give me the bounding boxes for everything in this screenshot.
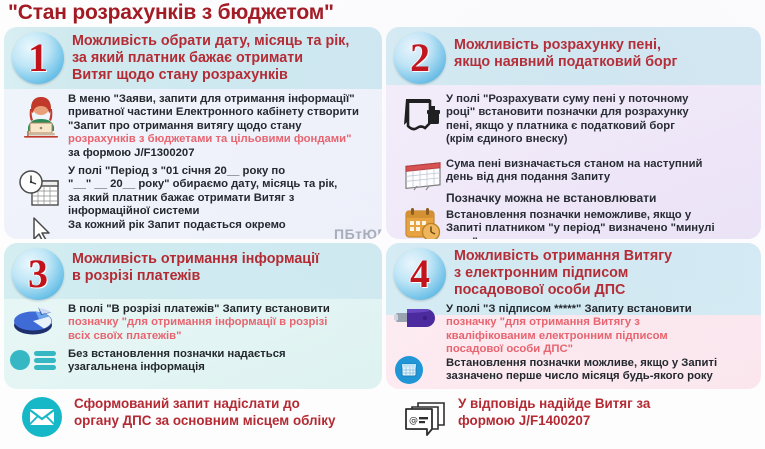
panel-2-row-3-line-2: Встановлення позначки неможливе, якщо у [446,209,755,222]
panel-2-number-badge: 2 [394,32,446,84]
panel-1-heading-line-1: Можливість обрати дату, місяць та рік, [72,33,374,50]
panel-3-row-2-line-2: узагальнена інформація [68,361,376,374]
infographic-page: "Стан розрахунків з бюджетом" 1 Можливіс… [0,0,765,449]
footer-response-text: У відповідь надійде Витяг за формою J/F1… [458,396,757,429]
panel-4-row-1-line-1: У полі "З підписом *****" Запиту встанов… [446,303,755,316]
panel-3-row-1-line-3: всіх своїх платежів" [68,330,376,343]
panel-1-row-2-line-1: У полі "Період з "01 січня 20__ року по [68,165,376,178]
footer-send-request-line-2: органу ДПС за основним місцем обліку [74,413,378,430]
panel-1-row-1-line-3: "Запит про отримання витягу щодо стану [68,120,376,133]
panel-3-heading-line-2: в розрізі платежів [72,268,374,285]
panel-1-heading-line-3: Витяг щодо стану розрахунків [72,67,374,84]
panel-4-row-1-line-2: позначку "для отримання Витягу з [446,316,755,329]
panel-1-number-badge: 1 [12,32,64,84]
calendar-red-top-icon [400,157,446,193]
panel-2-row-1-line-1: У полі "Розрахувати суму пені у поточном… [446,93,755,106]
panel-1-row-2-text: У полі "Період з "01 січня 20__ року по … [68,165,376,219]
footer-send-request: Сформований запит надіслати до органу ДП… [4,392,382,444]
footer-response-line-1: У відповідь надійде Витяг за [458,396,757,413]
calendar-clock-icon [400,205,446,239]
footer-response-line-2: формою J/F1400207 [458,413,757,430]
panel-4-heading-line-3: посадовової особи ДПС [454,282,753,299]
panel-2-row-1-line-4: (крім єдиного внеску) [446,133,755,146]
panel-1-number: 1 [12,32,64,84]
panel-2-row-2-line-2: день від дня подання Запиту [446,171,755,184]
panel-2-row-3-line-3: Запиті платником "у період" визначено "м… [446,222,755,235]
panel-2-heading: Можливість розрахунку пені, якщо наявний… [454,37,753,71]
panel-1-row-1-line-2: приватної частини Електронного кабінету … [68,106,376,119]
panel-4-row-2-line-2: зазначено перше число місяця будь-якого … [446,370,755,383]
panel-3-number-badge: 3 [12,248,64,300]
panel-3-row-1-text: В полі "В розрізі платежів" Запиту встан… [68,303,376,343]
panel-4-number-badge: 4 [394,248,446,300]
panel-1-row-2-line-2: "__" __ 20__ року" обираємо дату, місяць… [68,178,376,191]
panel-4-row-1-line-4: посадової особи ДПС" [446,343,755,356]
panel-1-heading: Можливість обрати дату, місяць та рік, з… [72,33,374,84]
panel-1-heading-line-2: за який платник бажає отримати [72,50,374,67]
scroll-inkpot-icon [400,93,446,135]
panel-2-row-1-line-3: пені, якщо у платника є податковий борг [446,120,755,133]
panel-4-row-2-text: Встановлення позначки можливе, якщо у За… [446,357,755,384]
list-circle-icon [8,347,54,377]
footer-send-request-line-1: Сформований запит надіслати до [74,396,378,413]
panel-4: 4 Можливість отримання Витягу з електрон… [386,243,761,389]
panel-4-heading-line-1: Можливість отримання Витягу [454,248,753,265]
watermark: ПБтЮП [334,226,382,239]
panel-2-row-2-text: Сума пені визначається станом на наступн… [446,158,755,185]
usb-token-icon [392,303,438,337]
svg-text:@: @ [409,416,418,426]
panel-3-number: 3 [12,248,64,300]
panel-2-row-3-text: Позначку можна не встановлювати Встановл… [446,191,755,239]
calendar-blue-circle-icon [392,355,438,387]
panel-4-heading: Можливість отримання Витягу з електронни… [454,248,753,299]
panel-1-row-1-line-4: розрахунків з бюджетами та цільовими фон… [68,133,376,146]
clock-calendar-icon [18,169,64,209]
panel-2-row-1-text: У полі "Розрахувати суму пені у поточном… [446,93,755,147]
panel-2-row-3-line-4: роки" [446,236,755,239]
footer-send-request-text: Сформований запит надіслати до органу ДП… [74,396,378,429]
page-title: "Стан розрахунків з бюджетом" [8,0,608,26]
pie-chart-icon [8,303,54,343]
panel-1-row-1-text: В меню "Заяви, запити для отримання інфо… [68,93,376,160]
panel-4-row-1-line-3: кваліфікованим електронним підписом [446,330,755,343]
panel-4-row-2-line-1: Встановлення позначки можливе, якщо у За… [446,357,755,370]
panel-3-heading: Можливість отримання інформації в розріз… [72,251,374,285]
panel-3-row-1-line-2: позначку "для отримання інформації в роз… [68,316,376,329]
panel-2-number: 2 [394,32,446,84]
panel-4-heading-line-2: з електронним підписом [454,265,753,282]
panel-1-row-1-line-1: В меню "Заяви, запити для отримання інфо… [68,93,376,106]
panel-3-row-1-line-1: В полі "В розрізі платежів" Запиту встан… [68,303,376,316]
panel-2-row-3-line-1: Позначку можна не встановлювати [446,191,755,206]
panel-3: 3 Можливість отримання інформації в розр… [4,243,382,389]
woman-at-laptop-icon [18,95,64,141]
panel-1-row-2-line-4: інформаційної системи [68,205,376,218]
panel-2: 2 Можливість розрахунку пені, якщо наявн… [386,27,761,239]
cursor-arrow-icon [18,215,64,239]
panel-4-number: 4 [394,248,446,300]
panel-1-row-3-line-1: За кожний рік Запит подається окремо [68,219,376,232]
panel-1-row-3-text: За кожний рік Запит подається окремо [68,219,376,232]
panel-1-row-1-line-5: за формою J/F1300207 [68,147,376,160]
panel-1-row-2-line-3: за який платник бажає отримати Витяг з [68,192,376,205]
panel-2-row-2-line-1: Сума пені визначається станом на наступн… [446,158,755,171]
footer-response: @ У відповідь надійде Витяг за формою J/… [386,392,761,444]
panel-3-row-2-line-1: Без встановлення позначки надається [68,348,376,361]
panel-3-heading-line-1: Можливість отримання інформації [72,251,374,268]
panel-2-row-1-line-2: році" встановити позначки для розрахунку [446,106,755,119]
panel-4-row-1-text: У полі "З підписом *****" Запиту встанов… [446,303,755,357]
envelope-icon [18,395,66,439]
panel-3-row-2-text: Без встановлення позначки надається узаг… [68,348,376,375]
panel-2-heading-line-1: Можливість розрахунку пені, [454,37,753,54]
panel-2-heading-line-2: якщо наявний податковий борг [454,54,753,71]
panel-1: 1 Можливість обрати дату, місяць та рік,… [4,27,382,239]
reply-document-icon: @ [400,395,448,439]
